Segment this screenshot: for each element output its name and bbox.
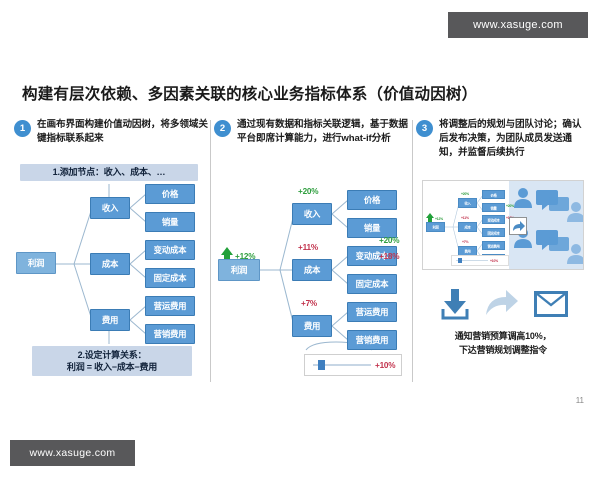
panel1-node-fixed-cost[interactable]: 固定成本	[145, 268, 195, 288]
panel3-mini-node-volume: 销量	[482, 203, 505, 212]
panel2-node-expense[interactable]: 费用	[292, 315, 332, 337]
panel3-mini-node-fixed-cost-label: 固定成本	[483, 230, 504, 235]
panel1-node-profit[interactable]: 利润	[16, 252, 56, 274]
panel2-slider-value: +10%	[375, 361, 395, 370]
panel1-node-revenue[interactable]: 收入	[90, 197, 130, 219]
panel1-node-expense[interactable]: 费用	[90, 309, 130, 331]
step-1-description: 在画布界面构建价值动因树，将多领域关键指标联系起来	[37, 118, 208, 146]
panel1-node-operating-expense[interactable]: 营运费用	[145, 296, 195, 316]
step-2-header: 2 通过现有数据和指标关联逻辑，基于数据平台即席计算能力，进行what-if分析	[214, 118, 410, 146]
panel-step-3: 3 将调整后的规划与团队讨论；确认后发布决策，为团队成员发送通知，并监督后续执行	[416, 118, 588, 386]
panel3-caption-line2: 下达营销规划调整指令	[418, 344, 588, 358]
panel2-node-revenue[interactable]: 收入	[292, 203, 332, 225]
panel-divider-2	[412, 120, 413, 382]
panel1-top-banner: 1.添加节点：收入、成本、…	[20, 164, 198, 181]
panel2-node-marketing-expense[interactable]: 营销费用	[347, 330, 397, 350]
panel3-mini-node-revenue-label: 收入	[459, 201, 476, 206]
page-title: 构建有层次依赖、多因素关联的核心业务指标体系（价值动因树）	[22, 82, 477, 104]
panel1-node-volume[interactable]: 销量	[145, 212, 195, 232]
panel3-share-badge-icon	[509, 217, 527, 235]
panel3-mini-node-variable-cost: 变动成本	[482, 215, 505, 224]
panel2-pct-revenue: +20%	[298, 187, 318, 196]
download-icon[interactable]	[440, 288, 470, 320]
watermark-bottom: www.xasuge.com	[10, 440, 135, 466]
panel2-pct-expense: +7%	[301, 299, 317, 308]
panel2-node-profit[interactable]: 利润	[218, 259, 260, 281]
panel1-node-cost[interactable]: 成本	[90, 253, 130, 275]
panel2-pct-volume: +20%	[379, 236, 399, 245]
panel2-slider-track-icon[interactable]	[311, 359, 373, 371]
step-3-number: 3	[416, 120, 433, 137]
panel3-mini-node-revenue: 收入	[458, 198, 477, 208]
panel3-mini-node-cost-label: 成本	[459, 225, 476, 230]
panel1-node-variable-cost[interactable]: 变动成本	[145, 240, 195, 260]
panel3-mini-node-profit-label: 利润	[427, 225, 444, 230]
panel2-node-cost[interactable]: 成本	[292, 259, 332, 281]
panel1-bottom-banner-line2: 利润 = 收入−成本−费用	[67, 361, 157, 373]
panel3-mini-node-price-label: 价格	[483, 192, 504, 197]
panel3-mini-node-cost: 成本	[458, 222, 477, 232]
panel3-mini-slider-value: +10%	[490, 259, 498, 263]
panel3-mini-node-volume-label: 销量	[483, 205, 504, 210]
envelope-icon[interactable]	[534, 291, 568, 317]
panel2-node-operating-expense[interactable]: 营运费用	[347, 302, 397, 322]
panel3-mini-node-fixed-cost: 固定成本	[482, 228, 505, 237]
watermark-top-text: www.xasuge.com	[473, 19, 563, 31]
panel1-bottom-banner: 2.设定计算关系： 利润 = 收入−成本−费用	[32, 346, 192, 376]
step-1-number: 1	[14, 120, 31, 137]
panel2-node-fixed-cost[interactable]: 固定成本	[347, 274, 397, 294]
panel3-mini-node-expense-label: 费用	[459, 249, 476, 254]
panel3-mini-node-variable-cost-label: 变动成本	[483, 217, 504, 222]
panel3-mini-pct-revenue: +20%	[461, 192, 469, 196]
step-2-description: 通过现有数据和指标关联逻辑，基于数据平台即席计算能力，进行what-if分析	[237, 118, 410, 146]
panel3-mini-node-operating-expense: 营运费用	[482, 241, 505, 250]
panel2-slider-box[interactable]: +10%	[304, 354, 402, 376]
step-3-header: 3 将调整后的规划与团队讨论；确认后发布决策，为团队成员发送通知，并监督后续执行	[416, 118, 588, 160]
share-arrow-icon[interactable]	[484, 290, 520, 318]
panel-step-2: 2 通过现有数据和指标关联逻辑，基于数据平台即席计算能力，进行what-if分析	[214, 118, 410, 386]
panel3-caption: 通知营销预算调高10%， 下达营销规划调整指令	[418, 330, 588, 357]
panel3-action-icons	[440, 286, 568, 322]
step-2-number: 2	[214, 120, 231, 137]
panel-divider-1	[210, 120, 211, 382]
panel-step-1: 1 在画布界面构建价值动因树，将多领域关键指标联系起来 1.添加节点：收入、成本…	[14, 118, 208, 386]
panel3-mini-pct-cost: +11%	[461, 216, 469, 220]
panel3-mini-slider-track-icon	[455, 257, 489, 264]
watermark-top: www.xasuge.com	[448, 12, 588, 38]
watermark-bottom-text: www.xasuge.com	[30, 447, 116, 459]
panel3-mini-node-operating-expense-label: 营运费用	[483, 243, 504, 248]
panel1-bottom-banner-line1: 2.设定计算关系：	[78, 349, 147, 361]
panel2-node-volume[interactable]: 销量	[347, 218, 397, 238]
panel2-pct-variable-cost: +18%	[379, 252, 399, 261]
step-3-description: 将调整后的规划与团队讨论；确认后发布决策，为团队成员发送通知，并监督后续执行	[439, 118, 588, 160]
panel1-node-marketing-expense[interactable]: 营销费用	[145, 324, 195, 344]
panel3-mini-pct-volume: +20%	[506, 204, 514, 208]
panel2-node-price[interactable]: 价格	[347, 190, 397, 210]
step-1-header: 1 在画布界面构建价值动因树，将多领域关键指标联系起来	[14, 118, 208, 146]
panel3-mini-node-price: 价格	[482, 190, 505, 199]
panel2-pct-cost: +11%	[298, 243, 318, 252]
panel3-mini-pct-profit: +12%	[435, 217, 443, 221]
panel1-node-price[interactable]: 价格	[145, 184, 195, 204]
panel3-preview-image[interactable]: +12% 利润 +20% 收入 +11% 成本 +7% 费用 价格	[422, 180, 584, 270]
panel3-mini-node-profit: 利润	[426, 222, 445, 232]
panels-container: 1 在画布界面构建价值动因树，将多领域关键指标联系起来 1.添加节点：收入、成本…	[14, 118, 588, 386]
panel3-mini-slider: +10%	[451, 255, 509, 266]
page-number: 11	[576, 396, 584, 405]
panel3-caption-line1: 通知营销预算调高10%，	[418, 330, 588, 344]
panel2-tree: +12% 利润 +20% 收入 +11% 成本 +7% 费用 价格 销量 +20…	[214, 190, 410, 350]
panel3-mini-pct-expense: +7%	[462, 240, 468, 244]
panel1-tree: 利润 收入 成本 费用 价格 销量 变动成本 固定成本 营运费用 营销费用	[14, 184, 208, 344]
